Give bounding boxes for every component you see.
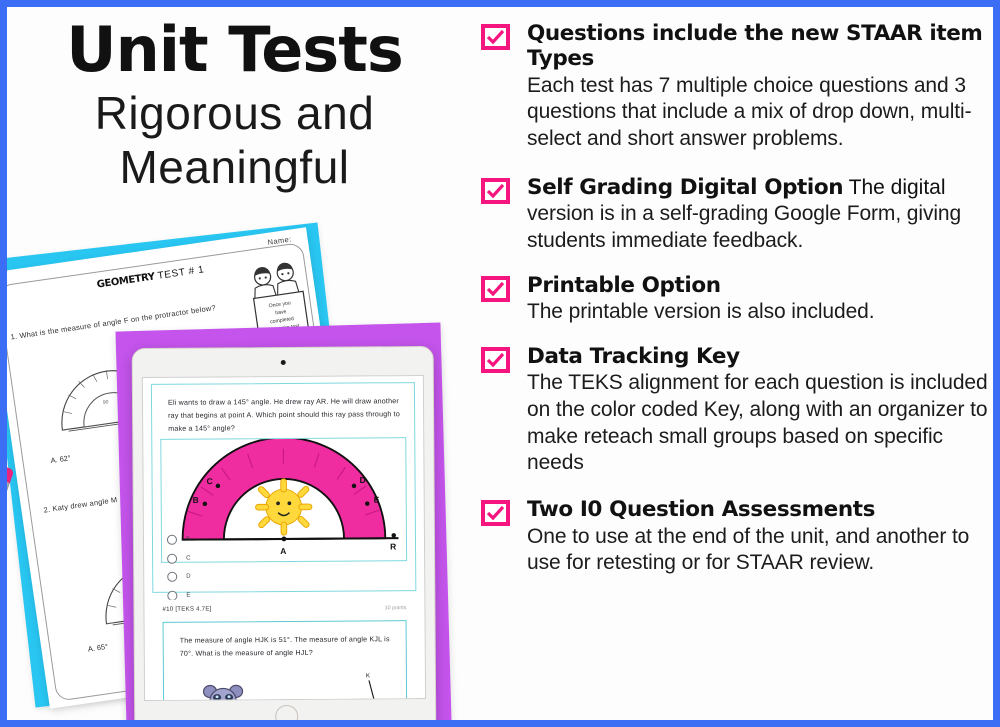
checked-checkbox-icon[interactable]	[481, 276, 510, 302]
feature-body: Each test has 7 multiple choice question…	[527, 73, 993, 153]
form-options-list: B C D E	[167, 535, 191, 609]
checked-checkbox-icon[interactable]	[481, 24, 510, 50]
feature-heading: Printable Option	[527, 273, 993, 299]
subtitle-line-1: Rigorous and	[89, 86, 381, 140]
subtitle-line-1-text: Rigorous and	[95, 87, 375, 139]
product-photo: Name: GEOMETRY TEST # 1 1. What is the m…	[3, 232, 477, 727]
feature-body: version is in a self-grading Google Form…	[527, 201, 993, 254]
subtitle-line-2: Meaningful	[113, 140, 355, 194]
title-block: Unit Tests Rigorous and Meaningful	[7, 17, 462, 195]
form-option-d[interactable]: D	[167, 572, 190, 582]
pencil-body-icon	[0, 494, 4, 727]
product-slide: Unit Tests Rigorous and Meaningful Name:…	[0, 0, 1000, 727]
checked-checkbox-icon[interactable]	[481, 500, 510, 526]
svg-text:B: B	[193, 495, 199, 505]
feature-heading-tail: The digital	[843, 176, 945, 199]
left-pane: Unit Tests Rigorous and Meaningful Name:…	[7, 7, 477, 720]
pencil-ferrule-icon	[0, 479, 10, 500]
koala-character-icon	[202, 682, 244, 701]
camera-dot-icon	[280, 360, 285, 365]
tablet-screen: Eli wants to draw a 145° angle. He drew …	[142, 375, 426, 701]
feature-heading: Two I0 Question Assessments	[527, 497, 993, 523]
svg-text:K: K	[366, 673, 370, 679]
feature-body: The TEKS alignment for each question is …	[527, 370, 993, 477]
form-question-2-box: The measure of angle HJK is 51°. The mea…	[163, 620, 408, 701]
form-question-1-text: Eli wants to draw a 145° angle. He drew …	[168, 395, 402, 436]
form-option-b-label: B	[186, 537, 190, 543]
checked-checkbox-icon[interactable]	[481, 178, 510, 204]
feature-heading: Data Tracking Key	[527, 344, 993, 370]
form-option-c-label: C	[186, 555, 190, 561]
svg-text:A: A	[280, 546, 286, 556]
svg-text:90: 90	[103, 399, 110, 406]
feature-item-self-grading: Self Grading Digital Option The digital …	[481, 175, 993, 255]
feature-body: The printable version is also included.	[527, 299, 993, 326]
svg-text:D: D	[360, 475, 366, 485]
features-list: Questions include the new STAAR item Typ…	[481, 21, 993, 721]
radio-button-icon[interactable]	[167, 572, 177, 582]
form-option-b[interactable]: B	[167, 535, 190, 545]
checked-checkbox-icon[interactable]	[481, 347, 510, 373]
form-option-d-label: D	[186, 574, 190, 580]
feature-heading-text: Printable Option	[527, 273, 721, 298]
form-item-points: 10 points	[385, 605, 407, 611]
google-form-question-card-1: Eli wants to draw a 145° angle. He drew …	[151, 382, 416, 593]
subtitle-line-2-text: Meaningful	[119, 141, 349, 193]
svg-text:R: R	[390, 541, 396, 551]
radio-button-icon[interactable]	[167, 535, 177, 545]
feature-heading: Self Grading Digital Option The digital	[527, 175, 993, 201]
feature-heading: Questions include the new STAAR item Typ…	[527, 21, 993, 72]
feature-heading-text: Self Grading Digital Option	[527, 175, 843, 200]
svg-text:E: E	[374, 495, 380, 505]
form-option-e-label: E	[186, 592, 190, 598]
form-question-1-image-box: CB DE AR	[160, 437, 407, 563]
page-title: Unit Tests	[7, 17, 462, 82]
form-question-2-text: The measure of angle HJK is 51°. The mea…	[180, 633, 394, 661]
feature-item-data-tracking: Data Tracking Key The TEKS alignment for…	[481, 344, 993, 477]
form-item-meta-row: #10 [TEKS 4.7E] 10 points	[162, 604, 406, 613]
svg-text:C: C	[207, 476, 213, 486]
feature-body: One to use at the end of the unit, and a…	[527, 524, 993, 577]
feature-item-printable: Printable Option The printable version i…	[481, 273, 993, 326]
radio-button-icon[interactable]	[167, 553, 177, 563]
form-item-id: #10 [TEKS 4.7E]	[162, 606, 211, 613]
home-button-icon[interactable]	[275, 705, 298, 727]
google-form-question-card-2: #10 [TEKS 4.7E] 10 points The measure of…	[152, 598, 417, 701]
feature-item-two-assessments: Two I0 Question Assessments One to use a…	[481, 497, 993, 577]
feature-heading-text: Data Tracking Key	[527, 344, 740, 369]
pink-protractor-icon: CB DE AR	[161, 438, 406, 562]
feature-item-questions: Questions include the new STAAR item Typ…	[481, 21, 993, 153]
feature-heading-text: Two I0 Question Assessments	[527, 497, 875, 522]
feature-heading-text: Questions include the new STAAR item Typ…	[527, 21, 982, 71]
angle-ray-diagram-icon: K	[350, 669, 390, 701]
form-option-c[interactable]: C	[167, 553, 190, 563]
tablet-device: Eli wants to draw a 145° angle. He drew …	[132, 346, 437, 727]
